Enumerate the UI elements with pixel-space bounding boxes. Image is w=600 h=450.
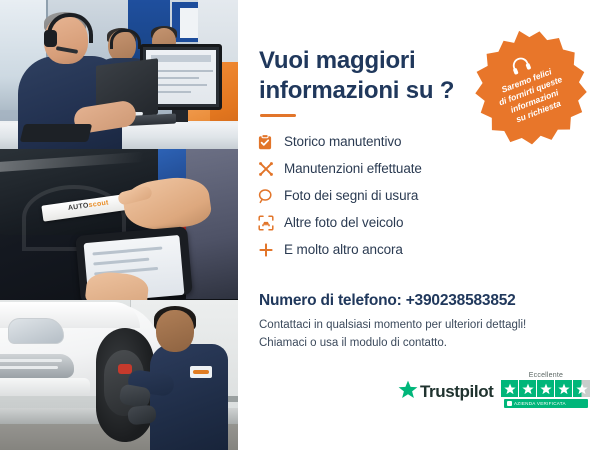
verified-check-icon bbox=[507, 401, 512, 406]
page-title-line-2: informazioni su ? bbox=[259, 76, 469, 106]
tools-cross-icon bbox=[258, 161, 284, 177]
photo1-monitor-row bbox=[153, 77, 199, 79]
promo-banner: AUTOscout bbox=[0, 0, 600, 450]
photo-column: AUTOscout bbox=[0, 0, 238, 450]
feature-label: E molto altro ancora bbox=[284, 242, 403, 257]
photo3-mechanic-body bbox=[150, 344, 228, 450]
phone-number[interactable]: +390238583852 bbox=[406, 292, 516, 309]
trustpilot-logo: Trustpilot bbox=[398, 380, 493, 404]
content-panel: Vuoi maggiori informazioni su ? Saremo f… bbox=[238, 0, 600, 450]
photo3-mechanic-head bbox=[156, 310, 194, 352]
feature-item-molto-altro: E molto altro ancora bbox=[258, 236, 558, 263]
photo1-person2-headset bbox=[110, 29, 141, 49]
feature-item-altre-foto-veicolo: Altre foto del veicolo bbox=[258, 209, 558, 236]
clipboard-check-icon bbox=[258, 134, 284, 150]
photo1-monitor-row bbox=[153, 84, 207, 86]
feature-label: Altre foto del veicolo bbox=[284, 215, 403, 230]
phone-line: Numero di telefono: +390238583852 bbox=[259, 292, 516, 310]
photo3-bumper bbox=[0, 378, 90, 396]
plus-icon bbox=[258, 242, 284, 258]
trustpilot-star-icon bbox=[398, 380, 418, 404]
feature-label: Manutenzioni effettuate bbox=[284, 161, 422, 176]
photo1-monitor-toolbar bbox=[151, 55, 211, 62]
photo3-mechanic-badge bbox=[190, 366, 212, 378]
trustpilot-star-filled bbox=[501, 380, 518, 397]
callout-badge-text: Saremo felici di fornirti queste informa… bbox=[482, 59, 584, 133]
photo1-monitor-row bbox=[153, 91, 191, 93]
photo2-tablet-line bbox=[92, 246, 162, 255]
feature-list: Storico manutentivo Manutenzi bbox=[258, 128, 558, 263]
contact-note-line-1: Contattaci in qualsiasi momento per ulte… bbox=[259, 319, 526, 331]
feature-label: Storico manutentivo bbox=[284, 134, 401, 149]
feature-item-foto-segni-usura: Foto dei segni di usura bbox=[258, 182, 558, 209]
photo1-tablet bbox=[20, 124, 92, 142]
trustpilot-widget[interactable]: Trustpilot Eccellente bbox=[398, 372, 590, 408]
page-title: Vuoi maggiori informazioni su ? bbox=[259, 46, 469, 106]
trustpilot-brand-name: Trustpilot bbox=[420, 382, 493, 402]
trustpilot-star-filled bbox=[555, 380, 572, 397]
trustpilot-verified-badge: AZIENDA VERIFICATA bbox=[504, 399, 588, 408]
trustpilot-star-filled bbox=[537, 380, 554, 397]
photo1-agent-headset-cup bbox=[44, 30, 57, 47]
mechanic-wheel-photo bbox=[0, 300, 238, 450]
photo3-red-tool bbox=[118, 364, 132, 374]
photo3-grille-bar bbox=[0, 359, 62, 362]
feature-label: Foto dei segni di usura bbox=[284, 188, 418, 203]
photo3-headlight bbox=[8, 318, 64, 344]
photo2-strip-logo-suffix: scout bbox=[88, 199, 109, 209]
car-inspection-photo: AUTOscout bbox=[0, 149, 238, 300]
photo1-monitor-row bbox=[153, 70, 213, 72]
trustpilot-star-half bbox=[573, 380, 590, 397]
contact-note-line-2: Chiamaci o usa il modulo di contatto. bbox=[259, 337, 447, 349]
photo2-tablet-line bbox=[93, 258, 149, 266]
trustpilot-star-filled bbox=[519, 380, 536, 397]
page-title-line-1: Vuoi maggiori bbox=[259, 47, 416, 74]
trustpilot-stars bbox=[501, 380, 590, 397]
feature-item-manutenzioni-effettuate: Manutenzioni effettuate bbox=[258, 155, 558, 182]
trustpilot-rating: Eccellente bbox=[501, 372, 590, 408]
phone-label: Numero di telefono: bbox=[259, 292, 402, 309]
feature-item-storico-manutentivo: Storico manutentivo bbox=[258, 128, 558, 155]
scan-car-icon bbox=[258, 215, 284, 231]
photo2-strip-logo-prefix: AUTO bbox=[68, 202, 90, 212]
magnifier-icon bbox=[258, 188, 284, 204]
trustpilot-verified-label: AZIENDA VERIFICATA bbox=[514, 401, 566, 406]
title-divider bbox=[260, 114, 296, 117]
trustpilot-rating-label: Eccellente bbox=[529, 372, 563, 379]
photo3-grille bbox=[0, 354, 74, 378]
call-center-agents-photo bbox=[0, 0, 238, 149]
photo2-strip-logo: AUTOscout bbox=[68, 199, 110, 212]
photo3-grille-bar bbox=[0, 366, 58, 369]
